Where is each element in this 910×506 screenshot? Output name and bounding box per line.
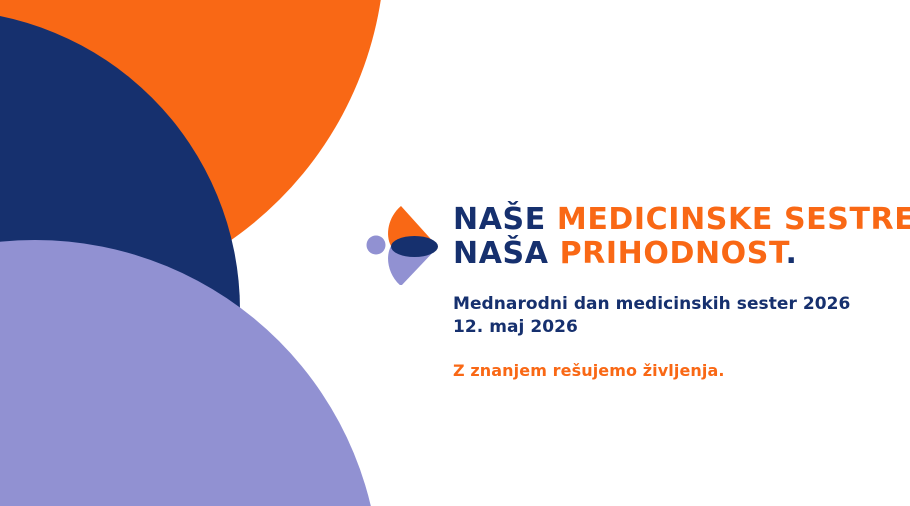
event-subtitle: Mednarodni dan medicinskih sester 2026 1… xyxy=(453,293,910,338)
tagline: Z znanjem rešujemo življenja. xyxy=(453,361,910,381)
headline-line-2: NAŠA PRIHODNOST. xyxy=(453,237,910,271)
headline-line-1-navy: NAŠE xyxy=(453,202,557,237)
purple-circle-bottom-left xyxy=(0,240,380,506)
headline-line-2-navy: NAŠA xyxy=(453,236,560,271)
headline-line-1-orange: MEDICINSKE SESTRE xyxy=(557,202,910,237)
headline-text-block: NAŠE MEDICINSKE SESTRE. NAŠA PRIHODNOST.… xyxy=(443,193,910,381)
headline-line-2-orange: PRIHODNOST xyxy=(560,236,786,271)
logo-mark xyxy=(355,201,443,285)
headline-line-1: NAŠE MEDICINSKE SESTRE. xyxy=(453,203,910,237)
orange-circle-top-left xyxy=(0,0,385,305)
headline-line-2-period: . xyxy=(785,236,797,271)
event-name: Mednarodni dan medicinskih sester 2026 xyxy=(453,293,910,316)
navy-circle-left xyxy=(0,10,240,506)
headline-row: NAŠE MEDICINSKE SESTRE. NAŠA PRIHODNOST.… xyxy=(355,193,875,381)
content-block: NAŠE MEDICINSKE SESTRE. NAŠA PRIHODNOST.… xyxy=(355,193,875,381)
poster-canvas: NAŠE MEDICINSKE SESTRE. NAŠA PRIHODNOST.… xyxy=(0,0,910,506)
logo-navy-lens-icon xyxy=(391,236,438,257)
logo-purple-dot-icon xyxy=(367,236,386,255)
page-title: NAŠE MEDICINSKE SESTRE. NAŠA PRIHODNOST. xyxy=(453,203,910,271)
event-date: 12. maj 2026 xyxy=(453,316,910,339)
